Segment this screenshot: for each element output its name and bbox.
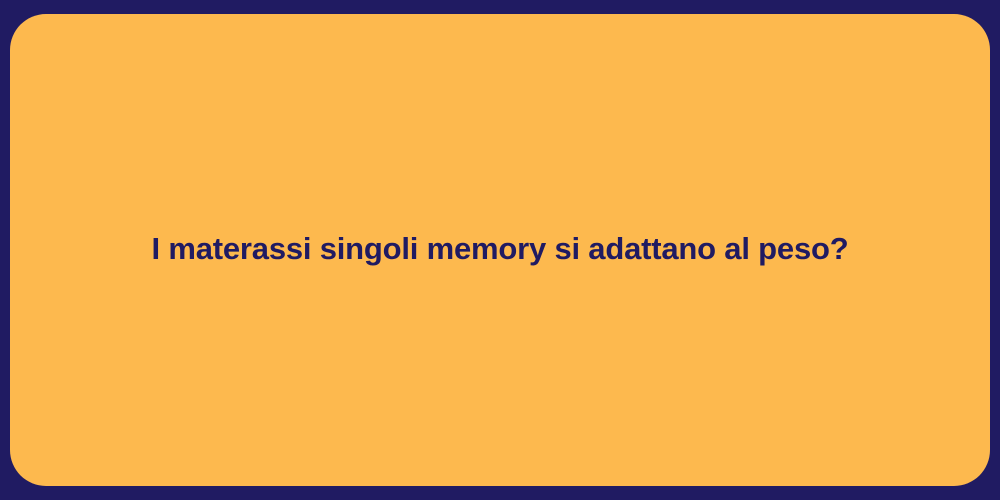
headline-question: I materassi singoli memory si adattano a… bbox=[112, 230, 889, 267]
card-panel: I materassi singoli memory si adattano a… bbox=[10, 14, 990, 486]
banner-card: I materassi singoli memory si adattano a… bbox=[0, 0, 1000, 500]
